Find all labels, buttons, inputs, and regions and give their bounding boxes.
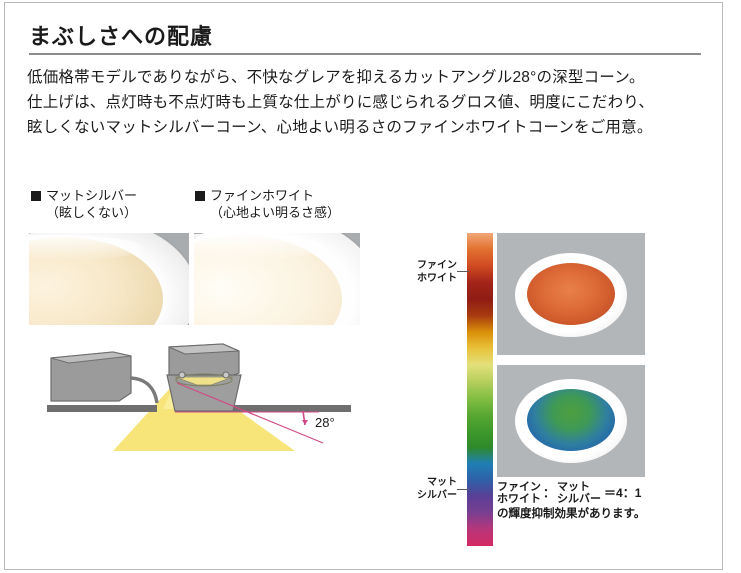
leader-line-matt-silver [457,489,469,490]
caption-matt-silver: マットシルバー （眩しくない） [31,187,137,221]
title-divider [29,53,701,55]
photo-matt-silver-cone [29,233,189,325]
ratio-left-line1: ファイン [497,481,541,493]
ratio-caption: ファイン ホワイト ： マット シルバー ＝4：1 の輝度抑制効果があります。 [497,481,727,521]
ratio-right-line2: シルバー [557,493,601,505]
luminance-scale-bar [467,233,493,546]
square-bullet-icon [31,191,41,201]
angle-arrow-head [302,420,308,425]
ceiling-slab-right [223,405,351,412]
ratio-right-line1: マット [557,481,601,493]
falsecolor-photo-fine-white [497,233,645,355]
body-copy: 低価格帯モデルでありながら、不快なグレアを抑えるカットアングル28°の深型コーン… [27,65,717,140]
body-line-2: 仕上げは、点灯時も不点灯時も上質な仕上がりに感じられるグロス値、明度にこだわり、 [27,90,717,115]
square-bullet-icon [195,191,205,201]
falsecolor-photo-matt-silver [497,365,645,477]
ratio-tail-text: の輝度抑制効果があります。 [497,508,727,521]
body-line-1: 低価格帯モデルでありながら、不快なグレアを抑えるカットアングル28°の深型コーン… [27,65,717,90]
ratio-colon: ： [543,487,555,500]
scale-label-matt-silver: マット シルバー [403,476,457,502]
screw-right [223,372,229,378]
page-title: まぶしさへの配慮 [29,19,213,51]
screw-left [179,372,185,378]
scale-label-fine-white-line1: ファイン [403,259,457,272]
ratio-equals: ＝4：1 [604,487,641,500]
scale-label-matt-silver-line2: シルバー [403,489,457,502]
ceiling-slab-left [47,405,157,412]
caption-fine-white-line2: （心地よい明るさ感） [195,204,340,221]
luminance-core-low [527,389,615,451]
photo-fine-white-cone [194,233,360,325]
ratio-left-term: ファイン ホワイト [497,481,541,505]
ratio-left-line2: ホワイト [497,493,541,505]
document-page: まぶしさへの配慮 低価格帯モデルでありながら、不快なグレアを抑えるカットアングル… [4,2,723,570]
caption-fine-white: ファインホワイト （心地よい明るさ感） [195,187,340,221]
caption-fine-white-line1: ファインホワイト [210,188,314,203]
leader-line-fine-white [457,271,469,272]
caption-matt-silver-line1: マットシルバー [46,188,137,203]
scale-label-fine-white-line2: ホワイト [403,272,457,285]
ratio-right-term: マット シルバー [557,481,601,505]
cross-section-diagram: 28° [27,333,357,455]
scale-label-fine-white: ファイン ホワイト [403,259,457,285]
body-line-3: 眩しくないマットシルバーコーン、心地よい明るさのファインホワイトコーンをご用意。 [27,115,717,140]
caption-matt-silver-line2: （眩しくない） [31,204,137,221]
scale-label-matt-silver-line1: マット [403,476,457,489]
ratio-expression: ファイン ホワイト ： マット シルバー ＝4：1 [497,481,727,505]
angle-label: 28° [315,415,335,430]
power-cable [131,378,157,403]
luminance-core-high [527,263,615,325]
